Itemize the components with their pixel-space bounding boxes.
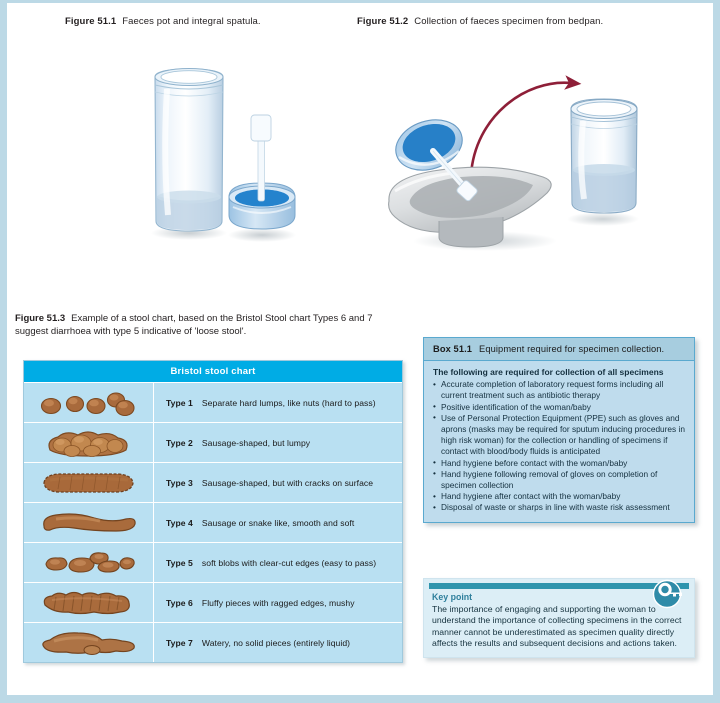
list-item: Disposal of waste or sharps in line with…	[433, 502, 686, 513]
table-cell-description: Type 2 Sausage-shaped, but lumpy	[154, 423, 402, 462]
figure-51-1-caption: Figure 51.1Faeces pot and integral spatu…	[65, 15, 261, 28]
stool-shape-type-6	[24, 583, 154, 622]
figure-51-1-illustration	[137, 55, 317, 255]
table-row: Type 2 Sausage-shaped, but lumpy	[24, 422, 402, 462]
stool-type-label: Type 3	[166, 478, 193, 488]
stool-shape-type-1	[24, 383, 154, 422]
key-point-title: Key point	[432, 592, 686, 602]
stool-type-description: Sausage-shaped, but with cracks on surfa…	[202, 478, 373, 488]
stool-type-description: Separate hard lumps, like nuts (hard to …	[202, 398, 376, 408]
stool-type-description: Sausage-shaped, but lumpy	[202, 438, 310, 448]
stool-type-label: Type 5	[166, 558, 193, 568]
figure-51-2-illustration	[375, 51, 675, 261]
figure-51-2-caption: Figure 51.2Collection of faeces specimen…	[357, 15, 603, 28]
box-51-1-intro: The following are required for collectio…	[433, 367, 686, 378]
box-51-1-body: The following are required for collectio…	[424, 361, 694, 522]
cap-with-spatula	[229, 115, 295, 229]
figure-51-2-label: Figure 51.2	[357, 16, 408, 27]
page-content: Figure 51.1Faeces pot and integral spatu…	[7, 3, 713, 695]
box-51-1-header: Box 51.1Equipment required for specimen …	[424, 338, 694, 361]
box-51-1-list: Accurate completion of laboratory reques…	[433, 379, 686, 513]
table-row: Type 3 Sausage-shaped, but with cracks o…	[24, 462, 402, 502]
table-cell-description: Type 4 Sausage or snake like, smooth and…	[154, 503, 402, 542]
stool-shape-type-7	[24, 623, 154, 662]
specimen-pot	[571, 99, 637, 213]
stool-type-label: Type 2	[166, 438, 193, 448]
box-51-1: Box 51.1Equipment required for specimen …	[423, 337, 695, 523]
stool-type-description: Sausage or snake like, smooth and soft	[202, 518, 354, 528]
figure-51-2-caption-text: Collection of faeces specimen from bedpa…	[414, 16, 603, 27]
list-item: Accurate completion of laboratory reques…	[433, 379, 686, 401]
jar-shadow	[567, 212, 639, 226]
table-row: Type 4 Sausage or snake like, smooth and…	[24, 502, 402, 542]
table-row: Type 6 Fluffy pieces with ragged edges, …	[24, 582, 402, 622]
list-item: Positive identification of the woman/bab…	[433, 402, 686, 413]
box-51-1-label: Box 51.1	[433, 344, 472, 354]
stool-type-description: Fluffy pieces with ragged edges, mushy	[202, 598, 355, 608]
cap-shadow	[228, 228, 296, 242]
stool-type-description: Watery, no solid pieces (entirely liquid…	[202, 638, 350, 648]
table-cell-description: Type 3 Sausage-shaped, but with cracks o…	[154, 463, 402, 502]
stool-shape-type-3	[24, 463, 154, 502]
figure-51-1-caption-text: Faeces pot and integral spatula.	[122, 16, 260, 27]
bristol-stool-chart-table: Bristol stool chart	[23, 360, 403, 663]
stool-type-label: Type 6	[166, 598, 193, 608]
stool-shape-type-4	[24, 503, 154, 542]
figure-51-3-caption: Figure 51.3Example of a stool chart, bas…	[15, 312, 405, 338]
key-point-box: Key point The importance of engaging and…	[423, 578, 695, 658]
stool-type-label: Type 4	[166, 518, 193, 528]
figure-51-3-label: Figure 51.3	[15, 313, 65, 324]
stool-chart-title: Bristol stool chart	[24, 361, 402, 382]
list-item: Hand hygiene following removal of gloves…	[433, 469, 686, 491]
key-point-text: The importance of engaging and supportin…	[432, 604, 686, 650]
list-item: Hand hygiene before contact with the wom…	[433, 458, 686, 469]
table-cell-description: Type 6 Fluffy pieces with ragged edges, …	[154, 583, 402, 622]
figure-51-1-label: Figure 51.1	[65, 16, 116, 27]
key-icon	[652, 575, 686, 609]
table-row: Type 7 Watery, no solid pieces (entirely…	[24, 622, 402, 662]
stool-shape-type-5	[24, 543, 154, 582]
stool-type-label: Type 7	[166, 638, 193, 648]
stool-shape-type-2	[24, 423, 154, 462]
table-row: Type 5 soft blobs with clear-cut edges (…	[24, 542, 402, 582]
box-51-1-title: Equipment required for specimen collecti…	[479, 344, 664, 354]
table-cell-description: Type 1 Separate hard lumps, like nuts (h…	[154, 383, 402, 422]
stool-type-description: soft blobs with clear-cut edges (easy to…	[202, 558, 376, 568]
page-frame: Figure 51.1Faeces pot and integral spatu…	[0, 0, 720, 703]
table-cell-description: Type 5 soft blobs with clear-cut edges (…	[154, 543, 402, 582]
list-item: Use of Personal Protection Equipment (PP…	[433, 413, 686, 458]
list-item: Hand hygiene after contact with the woma…	[433, 491, 686, 502]
specimen-pot	[155, 69, 223, 232]
key-point-body: Key point The importance of engaging and…	[424, 589, 694, 657]
transfer-arrow	[471, 83, 571, 175]
table-row: Type 1 Separate hard lumps, like nuts (h…	[24, 382, 402, 422]
figure-51-3-caption-text: Example of a stool chart, based on the B…	[15, 313, 373, 337]
stool-type-label: Type 1	[166, 398, 193, 408]
table-cell-description: Type 7 Watery, no solid pieces (entirely…	[154, 623, 402, 662]
